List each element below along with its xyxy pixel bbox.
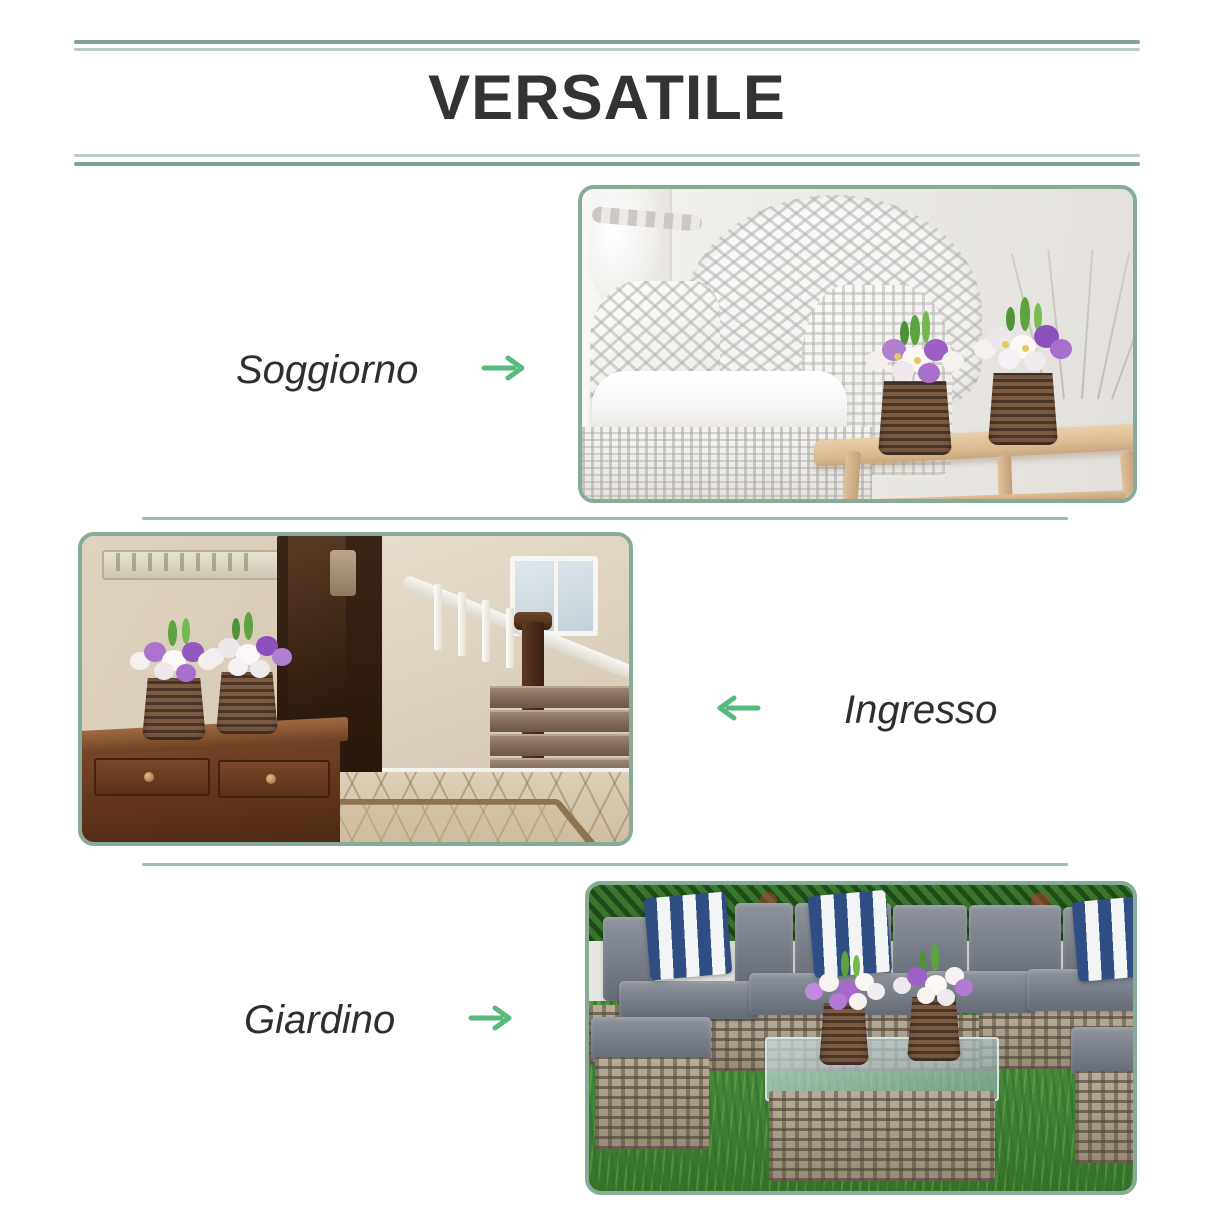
ottoman-base-left — [595, 1057, 709, 1149]
section-label-text: Giardino — [244, 998, 395, 1043]
ottoman-cushion-left — [591, 1017, 711, 1061]
flower-bouquet — [805, 965, 885, 1013]
section-label-soggiorno: Soggiorno — [236, 348, 536, 393]
photo-ingresso — [78, 532, 633, 846]
wicker-basket — [988, 373, 1058, 445]
striped-pillow — [1072, 896, 1133, 982]
photo-soggiorno — [578, 185, 1137, 503]
wicker-basket — [878, 381, 952, 455]
scene-living-room — [582, 189, 1133, 499]
section-divider — [142, 517, 1068, 520]
baluster — [506, 608, 514, 668]
scene-garden-patio — [589, 885, 1133, 1191]
arrow-right-icon — [467, 1003, 515, 1038]
flower-bouquet — [893, 959, 975, 1007]
versatile-feature-page: VERSATILE Soggiorno — [0, 0, 1214, 1214]
page-title: VERSATILE — [0, 62, 1214, 134]
flower-bouquet — [202, 626, 294, 682]
baluster — [434, 584, 442, 650]
ottoman-base-right — [1075, 1071, 1133, 1163]
drawer-knob — [144, 772, 154, 782]
striped-pillow — [644, 892, 733, 981]
arrow-right-icon — [480, 353, 528, 388]
seat-cushion — [619, 981, 759, 1019]
ottoman-cushion-right — [1071, 1027, 1133, 1075]
baluster — [458, 592, 466, 656]
header-rule-top-thick — [74, 40, 1140, 44]
shelf-decor — [116, 553, 256, 571]
flower-bouquet — [972, 313, 1076, 381]
header-rule-top-thin — [74, 48, 1140, 51]
section-label-giardino: Giardino — [244, 998, 544, 1043]
section-label-text: Ingresso — [844, 688, 997, 733]
door-opening-light — [330, 550, 356, 596]
header-rule-bottom-thick — [74, 162, 1140, 166]
flower-bouquet — [864, 329, 970, 391]
arrow-left-icon — [714, 693, 762, 728]
scene-hallway — [82, 536, 629, 842]
photo-giardino — [585, 881, 1137, 1195]
table-leg — [997, 455, 1013, 499]
drawer-knob — [266, 774, 276, 784]
section-divider — [142, 863, 1068, 866]
baluster — [482, 600, 490, 662]
section-label-ingresso: Ingresso — [714, 688, 1014, 733]
table-leg — [842, 451, 861, 499]
section-label-text: Soggiorno — [236, 348, 418, 393]
header-rule-bottom-thin — [74, 154, 1140, 157]
coffee-table-base — [769, 1091, 995, 1181]
